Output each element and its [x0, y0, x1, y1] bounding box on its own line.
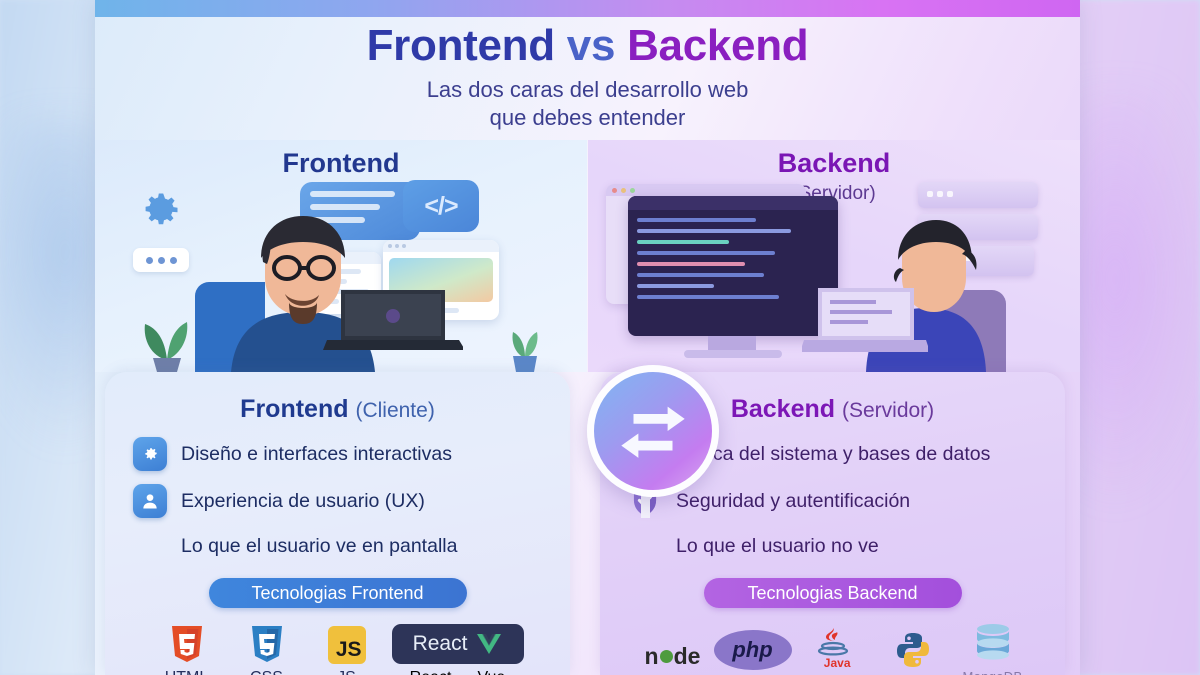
- php-logo-text: php: [714, 630, 792, 670]
- gear-icon: [139, 188, 183, 232]
- dots-card: [133, 248, 189, 272]
- react-vue-pill: React: [392, 624, 524, 664]
- tech-php: php PHP: [718, 626, 788, 675]
- user-icon: [133, 484, 167, 518]
- subtitle-line-1: Las dos caras del desarrollo web: [95, 76, 1080, 104]
- page-title: Frontend vs Backend: [95, 22, 1080, 70]
- panel-frontend: Frontend (Cliente) Diseño e interfaces i…: [105, 372, 570, 675]
- css3-shield-icon: [250, 620, 284, 664]
- page-subtitle: Las dos caras del desarrollo web que deb…: [95, 76, 1080, 131]
- plant-right-icon: [503, 318, 547, 372]
- title-backend: Backend: [627, 21, 808, 70]
- dot: [158, 257, 165, 264]
- exchange-arrows-icon: [587, 365, 719, 497]
- laptop-icon: [323, 288, 463, 354]
- tech-mongodb: MongoDB PostgreSQL: [958, 620, 1028, 675]
- feature-text: Experiencia de usuario (UX): [181, 490, 425, 513]
- dot: [146, 257, 153, 264]
- laptop-icon: [802, 286, 928, 356]
- tech-label: JS: [337, 669, 356, 675]
- react-vue-group: React React Vue: [392, 624, 524, 675]
- tech-python: Python: [878, 626, 948, 675]
- title-frontend: Frontend: [367, 21, 555, 70]
- tech-label: Vue: [477, 669, 505, 675]
- tech-label: HTML: [165, 669, 209, 675]
- nodejs-icon: nde: [645, 626, 701, 670]
- backend-tech-row: nde Node.js php PHP: [600, 620, 1065, 675]
- react-pill-label: React: [413, 632, 468, 656]
- hero-frontend-title: Frontend: [95, 148, 587, 179]
- dot: [170, 257, 177, 264]
- java-logo-label: Java: [824, 656, 851, 670]
- node-logo-n: n: [645, 643, 659, 670]
- hero-backend-title: Backend: [588, 148, 1080, 179]
- tech-label: MongoDB PostgreSQL: [963, 669, 1023, 675]
- subtitle-line-2: que debes entender: [95, 104, 1080, 132]
- panel-backend-heading-main: Backend: [731, 395, 835, 423]
- panel-frontend-heading-paren: (Cliente): [355, 399, 434, 422]
- mongodb-icon: [973, 620, 1013, 664]
- java-icon: Java: [815, 626, 851, 670]
- tech-css: CSS: [232, 620, 302, 675]
- feature-item: Diseño e interfaces interactivas: [105, 437, 570, 471]
- frontend-tech-row: HTML CSS JS JS: [105, 620, 570, 675]
- feature-item: Experiencia de usuario (UX): [105, 484, 570, 518]
- tech-label: CSS: [250, 669, 283, 675]
- tech-java: Java Java: [798, 626, 868, 675]
- frontend-tech-badge: Tecnologias Frontend: [209, 578, 467, 608]
- feature-text: Lógica del sistema y bases de datos: [676, 443, 990, 466]
- hero-illustrations: Frontend (Cliente) </>: [95, 140, 1080, 372]
- javascript-icon: JS: [328, 620, 366, 664]
- tech-html: HTML: [152, 620, 222, 675]
- feature-text: Lo que el usuario no ve: [676, 535, 879, 558]
- html5-shield-icon: [170, 620, 204, 664]
- node-logo-de: de: [674, 643, 701, 670]
- tech-js: JS JS: [312, 620, 382, 675]
- python-icon: [893, 626, 933, 670]
- tech-label: React: [410, 669, 452, 675]
- gear-settings-icon: [133, 437, 167, 471]
- vue-icon: [476, 633, 502, 655]
- hero-backend: Backend (Servidor): [588, 140, 1080, 372]
- title-vs: vs: [567, 21, 615, 70]
- backend-tech-badge: Tecnologias Backend: [704, 578, 962, 608]
- php-icon: php: [714, 626, 792, 670]
- infographic-stage: Frontend vs Backend Las dos caras del de…: [0, 0, 1200, 675]
- monitor-base: [684, 350, 782, 358]
- panel-frontend-heading-main: Frontend: [240, 395, 348, 423]
- feature-text: Lo que el usuario ve en pantalla: [181, 535, 457, 558]
- tech-nodejs: nde Node.js: [638, 626, 708, 675]
- server-rack: [918, 182, 1038, 208]
- feature-item: Lo que el usuario no ve: [600, 530, 1065, 562]
- code-bubble-icon: </>: [403, 180, 479, 232]
- panel-frontend-heading: Frontend (Cliente): [105, 372, 570, 424]
- feature-item: Lo que el usuario ve en pantalla: [105, 530, 570, 562]
- feature-text: Diseño e interfaces interactivas: [181, 443, 452, 466]
- mongodb-label: MongoDB: [963, 669, 1023, 675]
- plant-left-icon: [139, 300, 195, 372]
- hero-frontend: Frontend (Cliente) </>: [95, 140, 587, 372]
- panel-backend-heading-paren: (Servidor): [842, 399, 934, 422]
- infographic-card: Frontend vs Backend Las dos caras del de…: [95, 0, 1080, 675]
- feature-text: Seguridad y autentificación: [676, 490, 910, 513]
- header: Frontend vs Backend Las dos caras del de…: [95, 22, 1080, 131]
- top-gradient-bar: [95, 0, 1080, 17]
